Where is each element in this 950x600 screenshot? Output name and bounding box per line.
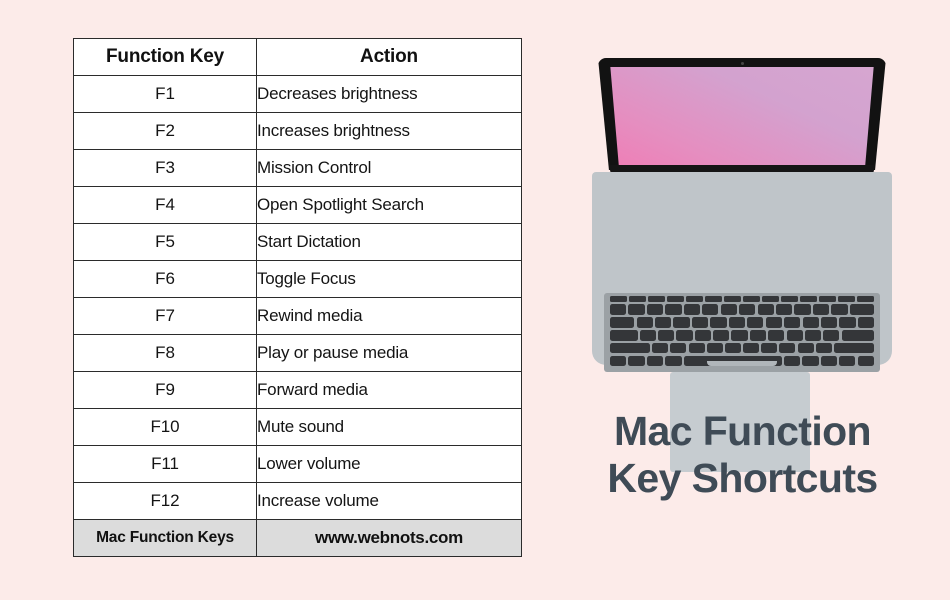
footer-website: www.webnots.com xyxy=(257,520,522,557)
keyboard-key xyxy=(803,317,819,328)
cell-action: Forward media xyxy=(257,372,522,409)
keyboard-key xyxy=(787,330,803,341)
mac-function-key-table: Function Key Action F1Decreases brightne… xyxy=(73,38,522,557)
cell-function-key: F12 xyxy=(74,483,257,520)
table-row: F3Mission Control xyxy=(74,150,522,187)
keyboard-key xyxy=(816,343,832,354)
keyboard-key xyxy=(713,330,729,341)
keyboard-key xyxy=(747,317,763,328)
keyboard-key xyxy=(702,304,718,315)
keyboard-key xyxy=(686,296,703,302)
keyboard-key xyxy=(640,330,656,341)
cell-function-key: F11 xyxy=(74,446,257,483)
keyboard-key xyxy=(838,296,855,302)
keyboard-key xyxy=(705,296,722,302)
keyboard-key xyxy=(821,356,837,367)
cell-function-key: F1 xyxy=(74,76,257,113)
table-body: F1Decreases brightnessF2Increases bright… xyxy=(74,76,522,520)
keyboard-key xyxy=(819,296,836,302)
cell-action: Increase volume xyxy=(257,483,522,520)
keyboard-key xyxy=(628,304,644,315)
keyboard-row-2 xyxy=(610,317,874,328)
cell-action: Decreases brightness xyxy=(257,76,522,113)
keyboard-key xyxy=(762,296,779,302)
keyboard-key xyxy=(637,317,653,328)
cell-function-key: F10 xyxy=(74,409,257,446)
keyboard-key xyxy=(647,304,663,315)
keyboard-key xyxy=(629,296,646,302)
cell-function-key: F7 xyxy=(74,298,257,335)
keyboard-key xyxy=(610,330,638,341)
cell-function-key: F6 xyxy=(74,261,257,298)
keyboard-key xyxy=(821,317,837,328)
cell-function-key: F5 xyxy=(74,224,257,261)
keyboard-key xyxy=(658,330,674,341)
keyboard-key xyxy=(839,356,855,367)
keyboard-key xyxy=(823,330,839,341)
keyboard-key xyxy=(831,304,847,315)
keyboard-key xyxy=(743,343,759,354)
cell-action: Rewind media xyxy=(257,298,522,335)
laptop-front-notch xyxy=(707,361,777,366)
keyboard-key xyxy=(684,304,700,315)
keyboard-key xyxy=(610,296,627,302)
keyboard-key xyxy=(776,304,792,315)
page-title-line-1: Mac Function xyxy=(570,408,915,455)
keyboard-key xyxy=(813,304,829,315)
keyboard-key xyxy=(689,343,705,354)
column-header-function-key: Function Key xyxy=(74,39,257,76)
table-row: F8Play or pause media xyxy=(74,335,522,372)
cell-action: Start Dictation xyxy=(257,224,522,261)
keyboard-key xyxy=(676,330,692,341)
keyboard-key xyxy=(842,330,874,341)
laptop-base xyxy=(592,172,892,365)
cell-function-key: F3 xyxy=(74,150,257,187)
keyboard-key xyxy=(665,304,681,315)
keyboard-key xyxy=(784,317,800,328)
keyboard-key xyxy=(729,317,745,328)
table-row: F10Mute sound xyxy=(74,409,522,446)
table-row: F9Forward media xyxy=(74,372,522,409)
keyboard-key xyxy=(805,330,821,341)
keyboard-key xyxy=(628,356,644,367)
keyboard-key xyxy=(750,330,766,341)
table-header-row: Function Key Action xyxy=(74,39,522,76)
keyboard-key xyxy=(857,296,874,302)
cell-function-key: F8 xyxy=(74,335,257,372)
keyboard-key xyxy=(648,296,665,302)
keyboard-key xyxy=(784,356,800,367)
keyboard-key xyxy=(710,317,726,328)
macbook-illustration xyxy=(592,58,892,370)
table-footer-row: Mac Function Keys www.webnots.com xyxy=(74,520,522,557)
keyboard-key xyxy=(731,330,747,341)
laptop-screen xyxy=(609,67,875,166)
table-row: F2Increases brightness xyxy=(74,113,522,150)
shortcut-table-container: Function Key Action F1Decreases brightne… xyxy=(73,38,521,557)
keyboard-row-4 xyxy=(610,343,874,354)
table-row: F1Decreases brightness xyxy=(74,76,522,113)
keyboard-key xyxy=(839,317,855,328)
keyboard-key xyxy=(761,343,777,354)
keyboard-key xyxy=(673,317,689,328)
keyboard-key xyxy=(858,356,874,367)
keyboard-row-0 xyxy=(610,296,874,302)
cell-function-key: F9 xyxy=(74,372,257,409)
column-header-action: Action xyxy=(257,39,522,76)
keyboard-key xyxy=(802,356,818,367)
keyboard-key xyxy=(798,343,814,354)
cell-action: Mission Control xyxy=(257,150,522,187)
keyboard-key xyxy=(779,343,795,354)
table-row: F5Start Dictation xyxy=(74,224,522,261)
cell-function-key: F4 xyxy=(74,187,257,224)
table-row: F4Open Spotlight Search xyxy=(74,187,522,224)
page-title: Mac Function Key Shortcuts xyxy=(570,408,915,502)
keyboard-key xyxy=(768,330,784,341)
keyboard-key xyxy=(758,304,774,315)
keyboard-key xyxy=(610,356,626,367)
keyboard-key xyxy=(655,317,671,328)
keyboard-key xyxy=(725,343,741,354)
table-row: F12Increase volume xyxy=(74,483,522,520)
keyboard-key xyxy=(667,296,684,302)
footer-label: Mac Function Keys xyxy=(74,520,257,557)
keyboard-key xyxy=(739,304,755,315)
keyboard-key xyxy=(834,343,874,354)
poster-canvas: Function Key Action F1Decreases brightne… xyxy=(0,0,950,600)
page-title-line-2: Key Shortcuts xyxy=(570,455,915,502)
keyboard-key xyxy=(695,330,711,341)
keyboard-key xyxy=(652,343,668,354)
keyboard-key xyxy=(766,317,782,328)
table-header: Function Key Action xyxy=(74,39,522,76)
keyboard-key xyxy=(610,343,650,354)
table-row: F6Toggle Focus xyxy=(74,261,522,298)
keyboard-key xyxy=(800,296,817,302)
cell-function-key: F2 xyxy=(74,113,257,150)
keyboard-key xyxy=(724,296,741,302)
keyboard-key xyxy=(707,343,723,354)
cell-action: Open Spotlight Search xyxy=(257,187,522,224)
table-row: F7Rewind media xyxy=(74,298,522,335)
cell-action: Mute sound xyxy=(257,409,522,446)
keyboard-key xyxy=(858,317,874,328)
keyboard-key xyxy=(610,317,634,328)
keyboard-keys xyxy=(610,296,874,369)
keyboard-key xyxy=(721,304,737,315)
laptop-lid xyxy=(598,58,886,170)
keyboard-row-3 xyxy=(610,330,874,341)
cell-action: Lower volume xyxy=(257,446,522,483)
cell-action: Play or pause media xyxy=(257,335,522,372)
keyboard-key xyxy=(850,304,874,315)
cell-action: Increases brightness xyxy=(257,113,522,150)
keyboard-key xyxy=(647,356,663,367)
table-footer: Mac Function Keys www.webnots.com xyxy=(74,520,522,557)
keyboard-key xyxy=(794,304,810,315)
keyboard-key xyxy=(670,343,686,354)
table-row: F11Lower volume xyxy=(74,446,522,483)
keyboard-row-1 xyxy=(610,304,874,315)
keyboard-key xyxy=(610,304,626,315)
keyboard-key xyxy=(781,296,798,302)
keyboard-key xyxy=(743,296,760,302)
keyboard-key xyxy=(692,317,708,328)
cell-action: Toggle Focus xyxy=(257,261,522,298)
webcam-icon xyxy=(741,62,744,65)
keyboard-key xyxy=(665,356,681,367)
